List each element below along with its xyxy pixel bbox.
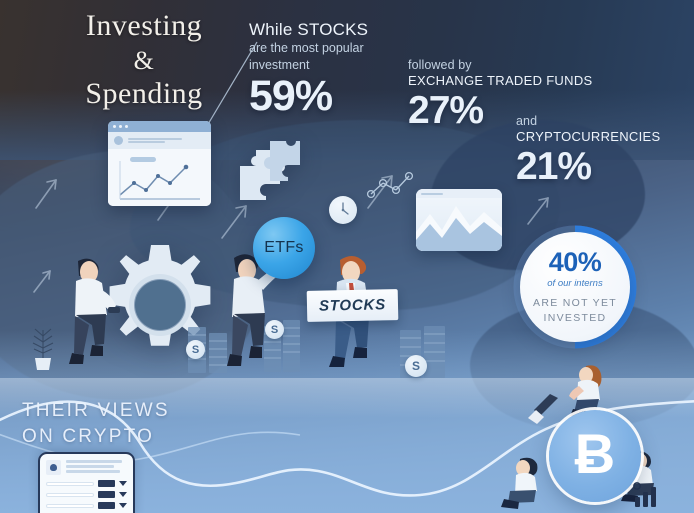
stat-etf-lead: followed by bbox=[408, 57, 598, 73]
stat-stocks-lead: While STOCKS bbox=[249, 20, 399, 40]
etf-sphere-badge: ETFs bbox=[253, 217, 315, 279]
person-pushing-gear bbox=[56, 255, 122, 373]
stat-stocks-value: 59% bbox=[249, 75, 399, 118]
form-profile-row bbox=[40, 454, 133, 475]
puzzle-pieces-icon bbox=[236, 140, 302, 206]
chevron-down-icon bbox=[119, 481, 127, 486]
avatar-icon bbox=[114, 136, 123, 145]
area-chart-card bbox=[416, 189, 502, 251]
chevron-down-icon bbox=[119, 492, 127, 497]
title-line-spending: Spending bbox=[44, 76, 244, 113]
browser-window-illustration bbox=[108, 121, 211, 206]
placeholder-text-lines bbox=[128, 137, 205, 145]
stat-stocks-sub-1: are the most popular bbox=[249, 40, 399, 56]
mini-bar-chart-icon bbox=[632, 480, 662, 508]
stat-etf-name: EXCHANGE TRADED FUNDS bbox=[408, 73, 598, 89]
donut-subject: of our interns bbox=[547, 278, 602, 289]
clock-icon bbox=[329, 196, 357, 224]
browser-dot-icon bbox=[113, 125, 116, 128]
stat-crypto-value: 21% bbox=[516, 147, 691, 186]
browser-dot-icon bbox=[125, 125, 128, 128]
mobile-form-card bbox=[38, 452, 135, 513]
mountain-area-chart-icon bbox=[416, 198, 502, 251]
form-field-label bbox=[46, 504, 94, 508]
dollar-coin-label: S bbox=[412, 359, 420, 373]
stat-crypto-name: CRYPTOCURRENCIES bbox=[516, 129, 691, 145]
stat-block-stocks: While STOCKS are the most popular invest… bbox=[249, 20, 399, 118]
title-line-investing: Investing bbox=[44, 8, 244, 45]
stocks-sign-label: STOCKS bbox=[319, 296, 386, 314]
donut-value: 40% bbox=[549, 249, 602, 276]
infographic-canvas: Investing & Spending While STOCKS are th… bbox=[0, 0, 694, 513]
donut-status-line-2: INVESTED bbox=[544, 312, 607, 324]
stocks-sign: STOCKS bbox=[307, 289, 399, 322]
dollar-coin-icon: S bbox=[186, 340, 205, 359]
donut-center-face: 40% of our interns ARE NOT YET INVESTED bbox=[520, 232, 630, 342]
chevron-down-icon bbox=[119, 503, 127, 508]
form-field-row bbox=[46, 491, 127, 498]
browser-titlebar bbox=[108, 121, 211, 132]
form-field-label bbox=[46, 493, 94, 497]
etf-sphere-label: ETFs bbox=[264, 239, 303, 257]
donut-status-line-1: ARE NOT YET bbox=[533, 297, 617, 309]
browser-dot-icon bbox=[119, 125, 122, 128]
form-field-value bbox=[98, 491, 115, 498]
dollar-coin-icon: S bbox=[405, 355, 427, 377]
dollar-coin-label: S bbox=[192, 344, 199, 356]
form-field-row bbox=[46, 480, 127, 487]
donut-status-label: ARE NOT YET INVESTED bbox=[533, 296, 617, 324]
title-ampersand: & bbox=[44, 45, 244, 77]
bitcoin-coin-icon: Ƀ bbox=[549, 410, 641, 502]
form-field-value bbox=[98, 480, 115, 487]
bitcoin-symbol: Ƀ bbox=[575, 426, 615, 482]
form-field-label bbox=[46, 482, 94, 486]
browser-chart-area bbox=[108, 149, 211, 206]
form-field-value bbox=[98, 502, 115, 509]
chart-legend-pill bbox=[130, 157, 156, 162]
form-text-placeholder bbox=[66, 460, 127, 475]
browser-profile-row bbox=[108, 132, 211, 149]
network-nodes-icon bbox=[365, 168, 421, 202]
stat-block-crypto: and CRYPTOCURRENCIES 21% bbox=[516, 113, 691, 186]
potted-plant-icon bbox=[26, 320, 60, 372]
page-title: Investing & Spending bbox=[44, 8, 244, 113]
card-titlebar bbox=[416, 189, 502, 198]
clock-hands bbox=[329, 196, 357, 224]
stat-crypto-lead: and bbox=[516, 113, 691, 129]
line-chart-icon bbox=[108, 149, 211, 206]
form-field-row bbox=[46, 502, 127, 509]
dollar-coin-label: S bbox=[271, 324, 278, 336]
user-avatar-icon bbox=[46, 460, 61, 475]
form-fields-grid bbox=[40, 475, 133, 509]
dollar-coin-icon: S bbox=[265, 320, 284, 339]
stat-stocks-sub-2: investment bbox=[249, 57, 399, 73]
interns-donut-chart: 40% of our interns ARE NOT YET INVESTED bbox=[512, 224, 638, 350]
